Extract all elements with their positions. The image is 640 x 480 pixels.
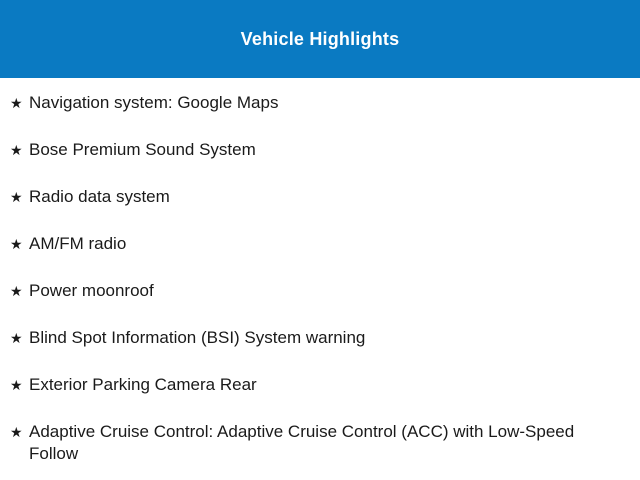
list-item: ★Blind Spot Information (BSI) System war… xyxy=(0,327,640,374)
list-item-label: Power moonroof xyxy=(29,280,616,302)
list-item: ★Navigation system: Google Maps xyxy=(0,92,640,139)
star-icon: ★ xyxy=(10,374,29,396)
panel-header: Vehicle Highlights xyxy=(0,0,640,78)
list-item: ★AM/FM radio xyxy=(0,233,640,280)
star-icon: ★ xyxy=(10,233,29,255)
list-item-label: Radio data system xyxy=(29,186,616,208)
list-item: ★Adaptive Cruise Control: Adaptive Cruis… xyxy=(0,421,640,468)
list-item-label: Exterior Parking Camera Rear xyxy=(29,374,616,396)
list-item-label: AM/FM radio xyxy=(29,233,616,255)
star-icon: ★ xyxy=(10,139,29,161)
list-item-label: Bose Premium Sound System xyxy=(29,139,616,161)
list-item-label: Adaptive Cruise Control: Adaptive Cruise… xyxy=(29,421,616,465)
star-icon: ★ xyxy=(10,186,29,208)
star-icon: ★ xyxy=(10,280,29,302)
star-icon: ★ xyxy=(10,92,29,114)
star-icon: ★ xyxy=(10,421,29,443)
list-item: ★Exterior Parking Camera Rear xyxy=(0,374,640,421)
star-icon: ★ xyxy=(10,327,29,349)
panel-body: ★Navigation system: Google Maps★Bose Pre… xyxy=(0,92,640,468)
list-item: ★Radio data system xyxy=(0,186,640,233)
page-title: Vehicle Highlights xyxy=(241,30,400,48)
list-item: ★Bose Premium Sound System xyxy=(0,139,640,186)
list-item-label: Blind Spot Information (BSI) System warn… xyxy=(29,327,616,349)
list-item-label: Navigation system: Google Maps xyxy=(29,92,616,114)
list-item: ★Power moonroof xyxy=(0,280,640,327)
vehicle-highlights-panel: Vehicle Highlights ★Navigation system: G… xyxy=(0,0,640,480)
vehicle-highlights-list: ★Navigation system: Google Maps★Bose Pre… xyxy=(0,92,640,468)
